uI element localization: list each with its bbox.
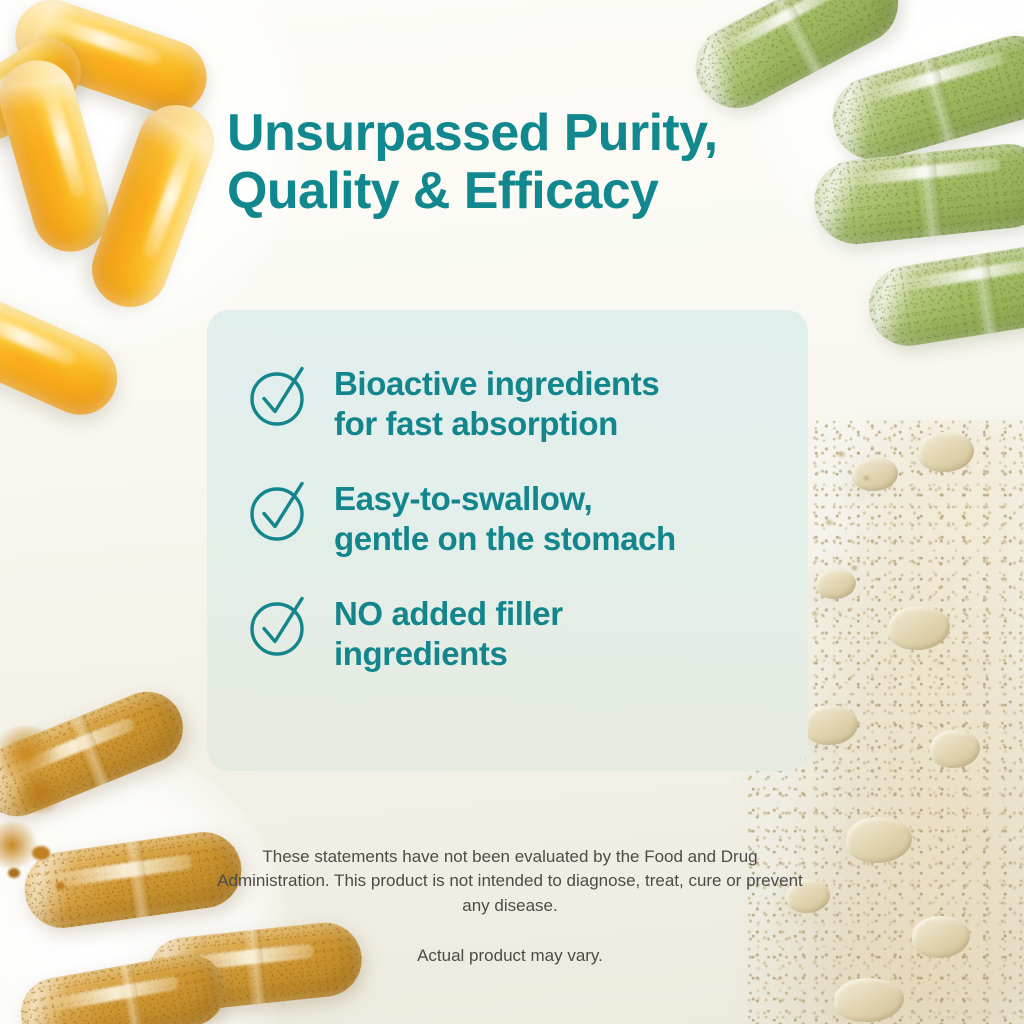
check-circle-icon <box>248 364 312 428</box>
powder-fleck <box>826 520 832 525</box>
product-variance-note: Actual product may vary. <box>213 944 807 968</box>
check-circle-icon <box>248 479 312 543</box>
powder-fleck <box>812 612 818 616</box>
benefit-text: Bioactive ingredients for fast absorptio… <box>334 362 659 443</box>
headline-line-2: Quality & Efficacy <box>227 162 867 220</box>
benefit-item: NO added filler ingredients <box>248 592 788 673</box>
benefit-item: Bioactive ingredients for fast absorptio… <box>248 362 788 443</box>
benefit-item: Easy-to-swallow, gentle on the stomach <box>248 477 788 558</box>
turmeric-powder-fleck <box>56 882 65 890</box>
turmeric-powder-spill <box>0 822 42 868</box>
page-title: Unsurpassed Purity, Quality & Efficacy <box>227 104 867 220</box>
benefit-text: Easy-to-swallow, gentle on the stomach <box>334 477 676 558</box>
disclaimer: These statements have not been evaluated… <box>213 845 807 969</box>
headline-line-1: Unsurpassed Purity, <box>227 104 717 162</box>
turmeric-capsule <box>15 949 230 1024</box>
softgel-capsule <box>0 26 93 152</box>
softgel-capsule <box>81 94 224 317</box>
benefits-list: Bioactive ingredients for fast absorptio… <box>248 362 788 674</box>
benefit-line-2: for fast absorption <box>334 404 659 444</box>
benefit-text: NO added filler ingredients <box>334 592 563 673</box>
check-circle-icon <box>248 594 312 658</box>
benefit-line-1: NO added filler <box>334 594 563 634</box>
powder-fleck <box>864 476 869 480</box>
turmeric-powder-spill <box>0 726 62 780</box>
benefit-line-2: ingredients <box>334 634 563 674</box>
powder-fleck <box>852 566 857 570</box>
infographic-canvas: Unsurpassed Purity, Quality & Efficacy B… <box>0 0 1024 1024</box>
turmeric-powder-spill <box>14 772 66 814</box>
powder-fleck <box>838 452 845 457</box>
turmeric-powder-fleck <box>8 868 20 878</box>
softgel-capsule <box>0 283 129 426</box>
softgel-capsule <box>0 51 118 260</box>
turmeric-powder-fleck <box>32 846 50 860</box>
benefit-line-1: Easy-to-swallow, <box>334 479 676 519</box>
fda-disclaimer-text: These statements have not been evaluated… <box>213 845 807 918</box>
softgel-capsule <box>5 0 216 124</box>
benefit-line-1: Bioactive ingredients <box>334 364 659 404</box>
green-capsule <box>863 237 1024 352</box>
turmeric-capsule <box>0 681 194 827</box>
benefit-line-2: gentle on the stomach <box>334 519 676 559</box>
